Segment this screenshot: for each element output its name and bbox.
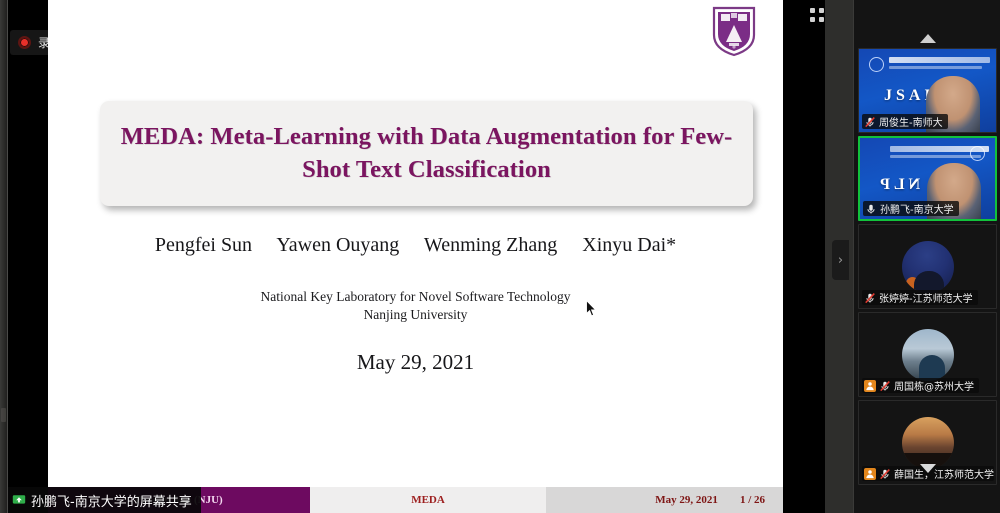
- participant-name: 周国栋@苏州大学: [894, 378, 974, 393]
- slide-affiliation: National Key Laboratory for Novel Softwa…: [48, 288, 783, 324]
- screen-share-banner: 孙鹏飞-南京大学的屏幕共享: [8, 487, 201, 513]
- participant-video-gallery: JSAI LP 周俊生-南师大 JSAI NLP: [853, 0, 1000, 513]
- footline-title: MEDA: [310, 487, 546, 513]
- avatar: [902, 329, 954, 381]
- record-dot-icon: [18, 36, 31, 49]
- footline-date: May 29, 2021: [655, 494, 718, 506]
- screen-share-icon: [12, 493, 26, 507]
- slide-title-card: MEDA: Meta-Learning with Data Augmentati…: [100, 101, 753, 206]
- conference-seal-icon: [869, 57, 884, 72]
- screen-share-banner-text: 孙鹏飞-南京大学的屏幕共享: [31, 491, 192, 510]
- collapse-gallery-button[interactable]: ›: [832, 240, 849, 280]
- window-left-edge: [0, 0, 8, 513]
- participant-tile[interactable]: 周国栋@苏州大学: [858, 312, 997, 397]
- drag-handle-dots-icon[interactable]: [810, 8, 825, 23]
- gallery-scroll-down-button[interactable]: [854, 458, 1000, 478]
- participant-name-bar: 孙鹏飞-南京大学: [863, 201, 959, 216]
- footline-right: May 29, 2021 1 / 26: [546, 487, 783, 513]
- avatar: [902, 241, 954, 293]
- participant-name-bar: 张婷婷-江苏师范大学: [862, 290, 978, 305]
- zoom-screen-share-window: 录制中 MEDA: Meta-Learning with Data Augmen…: [0, 0, 1000, 513]
- mic-muted-icon: [864, 116, 876, 128]
- slide-authors: Pengfei Sun Yawen Ouyang Wenming Zhang X…: [48, 234, 783, 257]
- participant-tile[interactable]: JSAI NLP 孙鹏飞-南京大学: [858, 136, 997, 221]
- footline-page-number: 1 / 26: [740, 494, 765, 506]
- scroll-down-arrow-icon: [920, 464, 936, 473]
- backdrop-header-line-2: [890, 155, 981, 158]
- affiliation-line-2: Nanjing University: [48, 306, 783, 324]
- gallery-scroll-up-button[interactable]: [854, 28, 1000, 48]
- slide-date: May 29, 2021: [48, 350, 783, 375]
- participant-tile[interactable]: 张婷婷-江苏师范大学: [858, 224, 997, 309]
- presentation-slide: MEDA: Meta-Learning with Data Augmentati…: [48, 0, 783, 487]
- affiliation-line-1: National Key Laboratory for Novel Softwa…: [48, 288, 783, 306]
- nanjing-university-shield-logo: [711, 5, 757, 57]
- slide-title: MEDA: Meta-Learning with Data Augmentati…: [100, 121, 753, 186]
- mic-unmuted-icon: [865, 203, 877, 215]
- backdrop-header-line-2: [889, 66, 982, 69]
- backdrop-header-line-1: [889, 57, 990, 63]
- participant-name-bar: 周国栋@苏州大学: [862, 378, 979, 393]
- mic-muted-icon: [864, 292, 876, 304]
- mic-muted-icon: [879, 380, 891, 392]
- window-resize-notch[interactable]: [1, 408, 6, 422]
- participant-name: 张婷婷-江苏师范大学: [879, 290, 973, 305]
- participant-name: 周俊生-南师大: [879, 114, 943, 129]
- host-badge-icon: [864, 380, 876, 392]
- shared-screen-stage: 录制中 MEDA: Meta-Learning with Data Augmen…: [8, 0, 825, 513]
- participant-tile[interactable]: JSAI LP 周俊生-南师大: [858, 48, 997, 133]
- host-person-glyph: [865, 381, 875, 391]
- participant-name: 孙鹏飞-南京大学: [880, 201, 954, 216]
- participant-name-bar: 周俊生-南师大: [862, 114, 948, 129]
- backdrop-header-line-1: [890, 146, 989, 152]
- scroll-up-arrow-icon: [920, 34, 936, 43]
